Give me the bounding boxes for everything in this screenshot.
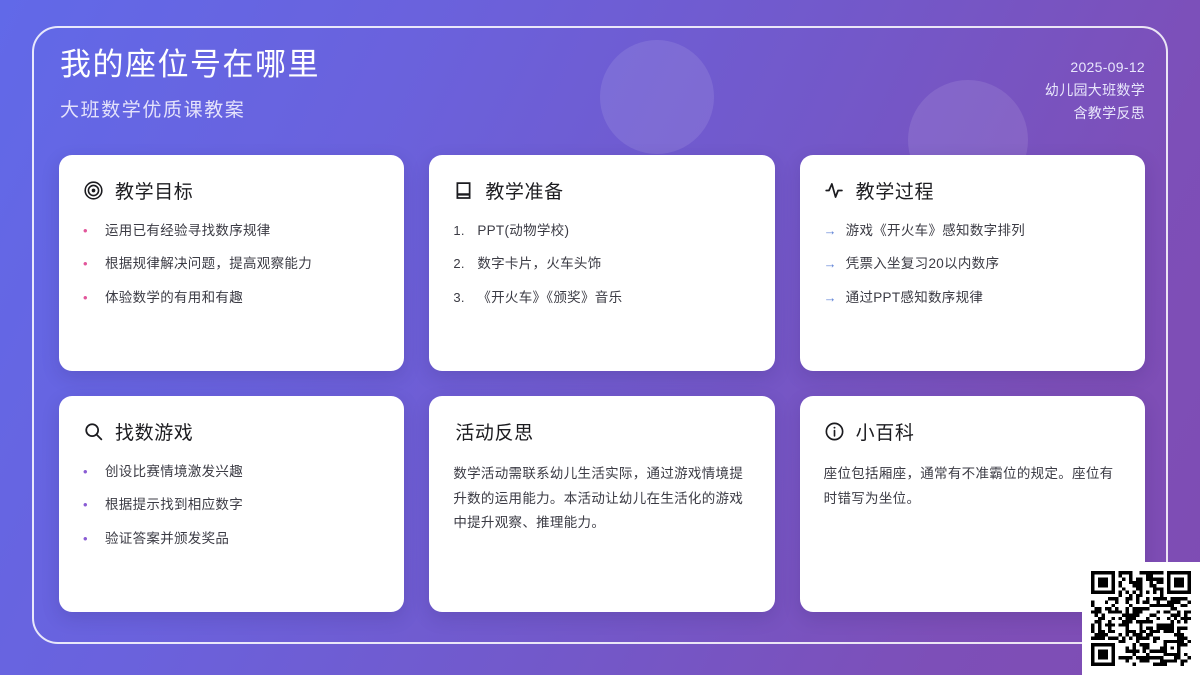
reflection-text: 数学活动需联系幼儿生活实际，通过游戏情境提升数的运用能力。本活动让幼儿在生活化的…	[453, 462, 750, 536]
process-list: →游戏《开火车》感知数字排列 →凭票入坐复习20以内数序 →通过PPT感知数序规…	[824, 221, 1121, 308]
card-title: 教学过程	[856, 177, 934, 204]
arrow-icon: →	[824, 288, 846, 308]
list-item-text: 《开火车》《颁奖》音乐	[477, 288, 622, 308]
activity-icon	[824, 180, 845, 201]
card-header: 活动反思	[453, 418, 750, 445]
list-item: →游戏《开火车》感知数字排列	[824, 221, 1121, 241]
card-activity-reflection[interactable]: 活动反思 数学活动需联系幼儿生活实际，通过游戏情境提升数的运用能力。本活动让幼儿…	[429, 396, 774, 612]
list-item-text: 创设比赛情境激发兴趣	[105, 462, 243, 482]
list-number: 3.	[453, 288, 477, 308]
bullet-icon: •	[83, 495, 105, 515]
card-title: 教学准备	[485, 177, 563, 204]
qr-code-container[interactable]	[1082, 562, 1200, 675]
list-item: 2.数字卡片，火车头饰	[453, 254, 750, 274]
card-header: 教学目标	[83, 177, 380, 204]
list-item: •创设比赛情境激发兴趣	[83, 462, 380, 482]
list-item: •体验数学的有用和有趣	[83, 288, 380, 308]
list-item: •根据规律解决问题，提高观察能力	[83, 254, 380, 274]
card-header: 找数游戏	[83, 418, 380, 445]
bullet-icon: •	[83, 529, 105, 549]
list-item: 3.《开火车》《颁奖》音乐	[453, 288, 750, 308]
list-item: →通过PPT感知数序规律	[824, 288, 1121, 308]
game-list: •创设比赛情境激发兴趣 •根据提示找到相应数字 •验证答案并颁发奖品	[83, 462, 380, 549]
card-teaching-process[interactable]: 教学过程 →游戏《开火车》感知数字排列 →凭票入坐复习20以内数序 →通过PPT…	[800, 155, 1145, 371]
list-item: →凭票入坐复习20以内数序	[824, 254, 1121, 274]
card-teaching-goals[interactable]: 教学目标 •运用已有经验寻找数序规律 •根据规律解决问题，提高观察能力 •体验数…	[59, 155, 404, 371]
card-header: 教学准备	[453, 177, 750, 204]
slide-canvas: 我的座位号在哪里 大班数学优质课教案 2025-09-12 幼儿园大班数学 含教…	[0, 0, 1200, 675]
encyclopedia-text: 座位包括厢座，通常有不准霸位的规定。座位有时错写为坐位。	[824, 462, 1121, 511]
card-teaching-preparation[interactable]: 教学准备 1.PPT(动物学校) 2.数字卡片，火车头饰 3.《开火车》《颁奖》…	[429, 155, 774, 371]
card-grid: 教学目标 •运用已有经验寻找数序规律 •根据规律解决问题，提高观察能力 •体验数…	[59, 155, 1145, 612]
list-item-text: 体验数学的有用和有趣	[105, 288, 243, 308]
slide-header: 我的座位号在哪里 大班数学优质课教案 2025-09-12 幼儿园大班数学 含教…	[60, 46, 1145, 142]
bullet-icon: •	[83, 288, 105, 308]
arrow-icon: →	[824, 221, 846, 241]
bullet-icon: •	[83, 254, 105, 274]
list-item-text: 运用已有经验寻找数序规律	[105, 221, 271, 241]
bullet-icon: •	[83, 462, 105, 482]
list-item-text: 凭票入坐复习20以内数序	[846, 254, 1000, 274]
info-icon	[824, 421, 845, 442]
list-item-text: 验证答案并颁发奖品	[105, 529, 229, 549]
arrow-icon: →	[824, 254, 846, 274]
bullet-icon: •	[83, 221, 105, 241]
search-icon	[83, 421, 104, 442]
card-title: 教学目标	[115, 177, 193, 204]
list-number: 1.	[453, 221, 477, 241]
meta-date: 2025-09-12	[1045, 56, 1145, 79]
list-item: 1.PPT(动物学校)	[453, 221, 750, 241]
card-title: 小百科	[856, 418, 915, 445]
list-number: 2.	[453, 254, 477, 274]
header-meta: 2025-09-12 幼儿园大班数学 含教学反思	[1045, 56, 1145, 125]
list-item-text: 数字卡片，火车头饰	[477, 254, 601, 274]
goal-list: •运用已有经验寻找数序规律 •根据规律解决问题，提高观察能力 •体验数学的有用和…	[83, 221, 380, 308]
list-item: •验证答案并颁发奖品	[83, 529, 380, 549]
list-item-text: 根据规律解决问题，提高观察能力	[105, 254, 312, 274]
list-item: •运用已有经验寻找数序规律	[83, 221, 380, 241]
card-header: 小百科	[824, 418, 1121, 445]
card-header: 教学过程	[824, 177, 1121, 204]
book-icon	[453, 180, 474, 201]
target-icon	[83, 180, 104, 201]
qr-code	[1091, 571, 1191, 666]
card-title: 活动反思	[455, 418, 533, 445]
preparation-list: 1.PPT(动物学校) 2.数字卡片，火车头饰 3.《开火车》《颁奖》音乐	[453, 221, 750, 308]
meta-course: 幼儿园大班数学	[1045, 79, 1145, 102]
list-item-text: 通过PPT感知数序规律	[846, 288, 984, 308]
page-title: 我的座位号在哪里	[60, 46, 1145, 85]
page-subtitle: 大班数学优质课教案	[60, 95, 1145, 122]
list-item: •根据提示找到相应数字	[83, 495, 380, 515]
card-number-game[interactable]: 找数游戏 •创设比赛情境激发兴趣 •根据提示找到相应数字 •验证答案并颁发奖品	[59, 396, 404, 612]
list-item-text: PPT(动物学校)	[477, 221, 569, 241]
list-item-text: 游戏《开火车》感知数字排列	[846, 221, 1025, 241]
list-item-text: 根据提示找到相应数字	[105, 495, 243, 515]
meta-note: 含教学反思	[1045, 102, 1145, 125]
card-title: 找数游戏	[115, 418, 193, 445]
